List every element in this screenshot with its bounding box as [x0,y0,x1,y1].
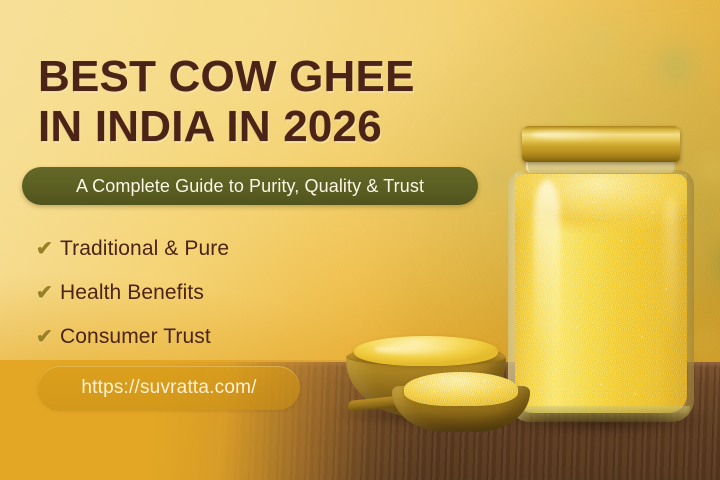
headline-line-1: BEST COW GHEE [38,52,488,102]
promo-banner: BEST COW GHEE IN INDIA IN 2026 A Complet… [0,0,720,480]
list-item-label: Health Benefits [60,281,204,305]
subtitle-banner: A Complete Guide to Purity, Quality & Tr… [22,167,478,205]
bowl-ghee-content [354,336,498,366]
headline: BEST COW GHEE IN INDIA IN 2026 [38,52,488,152]
list-item-label: Traditional & Pure [60,237,229,261]
jar-highlight-right [664,196,678,346]
ghee-jar [508,126,694,422]
list-item: ✔ Consumer Trust [36,315,366,359]
jar-glass-body [508,170,694,422]
website-url-text: https://suvratta.com/ [81,377,256,399]
check-icon: ✔ [36,327,60,347]
list-item: ✔ Traditional & Pure [36,227,366,271]
jar-highlight-left [534,180,560,360]
check-icon: ✔ [36,239,60,259]
subtitle-text: A Complete Guide to Purity, Quality & Tr… [76,176,424,197]
list-item: ✔ Health Benefits [36,271,366,315]
feature-list: ✔ Traditional & Pure ✔ Health Benefits ✔… [36,227,366,359]
check-icon: ✔ [36,283,60,303]
website-url-pill[interactable]: https://suvratta.com/ [38,366,300,410]
list-item-label: Consumer Trust [60,325,211,349]
ghee-spoon [392,372,530,434]
jar-base [512,406,690,422]
spoon-ghee-content [404,372,518,406]
jar-gold-lid [522,126,680,162]
headline-line-2: IN INDIA IN 2026 [38,102,488,152]
